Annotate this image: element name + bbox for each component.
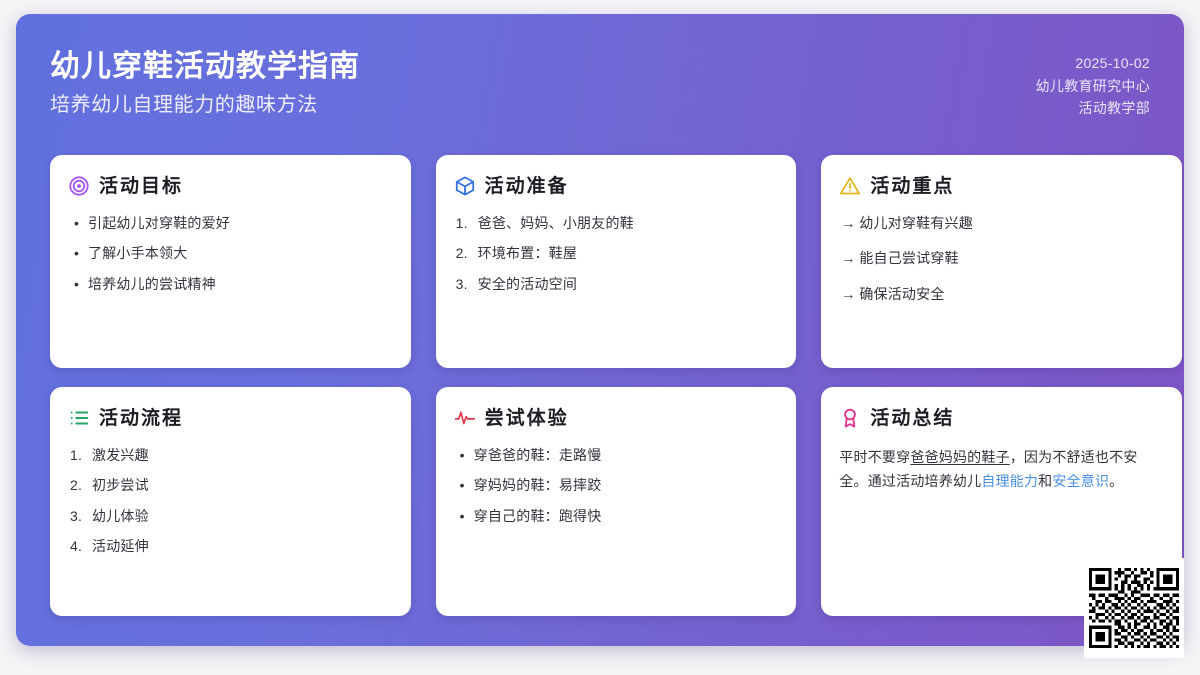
bullet-marker: • xyxy=(70,274,88,294)
card-header: 活动流程 xyxy=(68,407,393,429)
card-header: 活动目标 xyxy=(68,175,393,197)
summary-segment: 和 xyxy=(1038,473,1052,489)
card-header: 活动重点 xyxy=(839,175,1164,197)
bullet-marker: • xyxy=(456,475,474,495)
qr-code-container[interactable] xyxy=(1084,558,1184,658)
list-icon xyxy=(68,407,90,429)
meta-department: 活动教学部 xyxy=(1079,97,1151,120)
list-item-text: 穿自己的鞋：跑得快 xyxy=(474,506,779,526)
list-item: 3.幼儿体验 xyxy=(70,506,393,526)
list-item: 4.活动延伸 xyxy=(70,536,393,556)
list-item: •培养幼儿的尝试精神 xyxy=(70,274,393,294)
card-header: 尝试体验 xyxy=(454,407,779,429)
card-grid: 活动目标 •引起幼儿对穿鞋的爱好 •了解小手本领大 •培养幼儿的尝试精神 xyxy=(50,155,1182,616)
arrow-marker: → xyxy=(841,248,859,268)
card-title: 活动重点 xyxy=(870,177,954,196)
list-item: •引起幼儿对穿鞋的爱好 xyxy=(70,213,393,233)
list-item: •穿爸爸的鞋：走路慢 xyxy=(456,445,779,465)
list-item-text: 能自己尝试穿鞋 xyxy=(859,248,1164,268)
page-title: 幼儿穿鞋活动教学指南 xyxy=(50,48,360,86)
number-marker: 2. xyxy=(456,243,478,263)
card-preparation[interactable]: 活动准备 1.爸爸、妈妈、小朋友的鞋 2.环境布置：鞋屋 3.安全的活动空间 xyxy=(436,155,797,368)
focus-list: →幼儿对穿鞋有兴趣 →能自己尝试穿鞋 →确保活动安全 xyxy=(839,213,1164,304)
objectives-list: •引起幼儿对穿鞋的爱好 •了解小手本领大 •培养幼儿的尝试精神 xyxy=(68,213,393,294)
number-marker: 4. xyxy=(70,536,92,556)
arrow-marker: → xyxy=(841,284,859,304)
number-marker: 1. xyxy=(456,213,478,233)
list-item-text: 环境布置：鞋屋 xyxy=(478,243,779,263)
card-focus[interactable]: 活动重点 →幼儿对穿鞋有兴趣 →能自己尝试穿鞋 →确保活动安全 xyxy=(821,155,1182,368)
list-item: 1.爸爸、妈妈、小朋友的鞋 xyxy=(456,213,779,233)
number-marker: 3. xyxy=(70,506,92,526)
card-objectives[interactable]: 活动目标 •引起幼儿对穿鞋的爱好 •了解小手本领大 •培养幼儿的尝试精神 xyxy=(50,155,411,368)
page-subtitle: 培养幼儿自理能力的趣味方法 xyxy=(50,92,360,118)
list-item: 2.环境布置：鞋屋 xyxy=(456,243,779,263)
card-title: 活动目标 xyxy=(99,177,183,196)
list-item: •了解小手本领大 xyxy=(70,243,393,263)
summary-segment: 。 xyxy=(1109,473,1123,489)
summary-segment-highlight: 安全意识 xyxy=(1052,473,1109,489)
meta-organization: 幼儿教育研究中心 xyxy=(1036,75,1150,98)
header-left: 幼儿穿鞋活动教学指南 培养幼儿自理能力的趣味方法 xyxy=(50,48,360,118)
arrow-marker: → xyxy=(841,213,859,233)
box-icon xyxy=(454,175,476,197)
list-item-text: 引起幼儿对穿鞋的爱好 xyxy=(88,213,393,233)
card-title: 活动准备 xyxy=(485,177,569,196)
experience-list: •穿爸爸的鞋：走路慢 •穿妈妈的鞋：易摔跤 •穿自己的鞋：跑得快 xyxy=(454,445,779,526)
list-item-text: 活动延伸 xyxy=(92,536,393,556)
summary-paragraph: 平时不要穿爸爸妈妈的鞋子，因为不舒适也不安全。通过活动培养幼儿自理能力和安全意识… xyxy=(839,445,1164,493)
list-item: →能自己尝试穿鞋 xyxy=(841,248,1164,268)
list-item-text: 幼儿对穿鞋有兴趣 xyxy=(859,213,1164,233)
list-item: 2.初步尝试 xyxy=(70,475,393,495)
summary-segment-highlight: 自理能力 xyxy=(981,473,1038,489)
warning-triangle-icon xyxy=(839,175,861,197)
list-item: 1.激发兴趣 xyxy=(70,445,393,465)
header-meta: 2025-10-02 幼儿教育研究中心 活动教学部 xyxy=(1036,48,1150,120)
bullet-marker: • xyxy=(456,506,474,526)
process-list: 1.激发兴趣 2.初步尝试 3.幼儿体验 4.活动延伸 xyxy=(68,445,393,556)
card-experience[interactable]: 尝试体验 •穿爸爸的鞋：走路慢 •穿妈妈的鞋：易摔跤 •穿自己的鞋：跑得快 xyxy=(436,387,797,616)
list-item-text: 激发兴趣 xyxy=(92,445,393,465)
card-title: 活动总结 xyxy=(870,409,954,428)
list-item-text: 初步尝试 xyxy=(92,475,393,495)
list-item: •穿自己的鞋：跑得快 xyxy=(456,506,779,526)
card-header: 活动准备 xyxy=(454,175,779,197)
target-icon xyxy=(68,175,90,197)
pulse-icon xyxy=(454,407,476,429)
summary-segment-underline: 爸爸妈妈的鞋子 xyxy=(910,449,1009,465)
bullet-marker: • xyxy=(70,243,88,263)
bullet-marker: • xyxy=(456,445,474,465)
award-icon xyxy=(839,407,861,429)
meta-date: 2025-10-02 xyxy=(1075,52,1150,75)
list-item: 3.安全的活动空间 xyxy=(456,274,779,294)
qr-code xyxy=(1089,563,1179,653)
list-item-text: 培养幼儿的尝试精神 xyxy=(88,274,393,294)
list-item-text: 安全的活动空间 xyxy=(478,274,779,294)
preparation-list: 1.爸爸、妈妈、小朋友的鞋 2.环境布置：鞋屋 3.安全的活动空间 xyxy=(454,213,779,294)
list-item-text: 了解小手本领大 xyxy=(88,243,393,263)
number-marker: 3. xyxy=(456,274,478,294)
list-item-text: 幼儿体验 xyxy=(92,506,393,526)
slide-panel: 幼儿穿鞋活动教学指南 培养幼儿自理能力的趣味方法 2025-10-02 幼儿教育… xyxy=(16,14,1184,646)
number-marker: 1. xyxy=(70,445,92,465)
list-item: •穿妈妈的鞋：易摔跤 xyxy=(456,475,779,495)
card-title: 活动流程 xyxy=(99,409,183,428)
list-item: →确保活动安全 xyxy=(841,284,1164,304)
list-item-text: 穿妈妈的鞋：易摔跤 xyxy=(474,475,779,495)
number-marker: 2. xyxy=(70,475,92,495)
list-item-text: 爸爸、妈妈、小朋友的鞋 xyxy=(478,213,779,233)
bullet-marker: • xyxy=(70,213,88,233)
card-title: 尝试体验 xyxy=(485,409,569,428)
list-item-text: 确保活动安全 xyxy=(859,284,1164,304)
slide-header: 幼儿穿鞋活动教学指南 培养幼儿自理能力的趣味方法 2025-10-02 幼儿教育… xyxy=(16,14,1184,154)
card-header: 活动总结 xyxy=(839,407,1164,429)
slide-root: 幼儿穿鞋活动教学指南 培养幼儿自理能力的趣味方法 2025-10-02 幼儿教育… xyxy=(0,0,1200,675)
summary-segment: 平时不要穿 xyxy=(839,449,910,465)
list-item: →幼儿对穿鞋有兴趣 xyxy=(841,213,1164,233)
list-item-text: 穿爸爸的鞋：走路慢 xyxy=(474,445,779,465)
card-process[interactable]: 活动流程 1.激发兴趣 2.初步尝试 3.幼儿体验 4.活动延伸 xyxy=(50,387,411,616)
